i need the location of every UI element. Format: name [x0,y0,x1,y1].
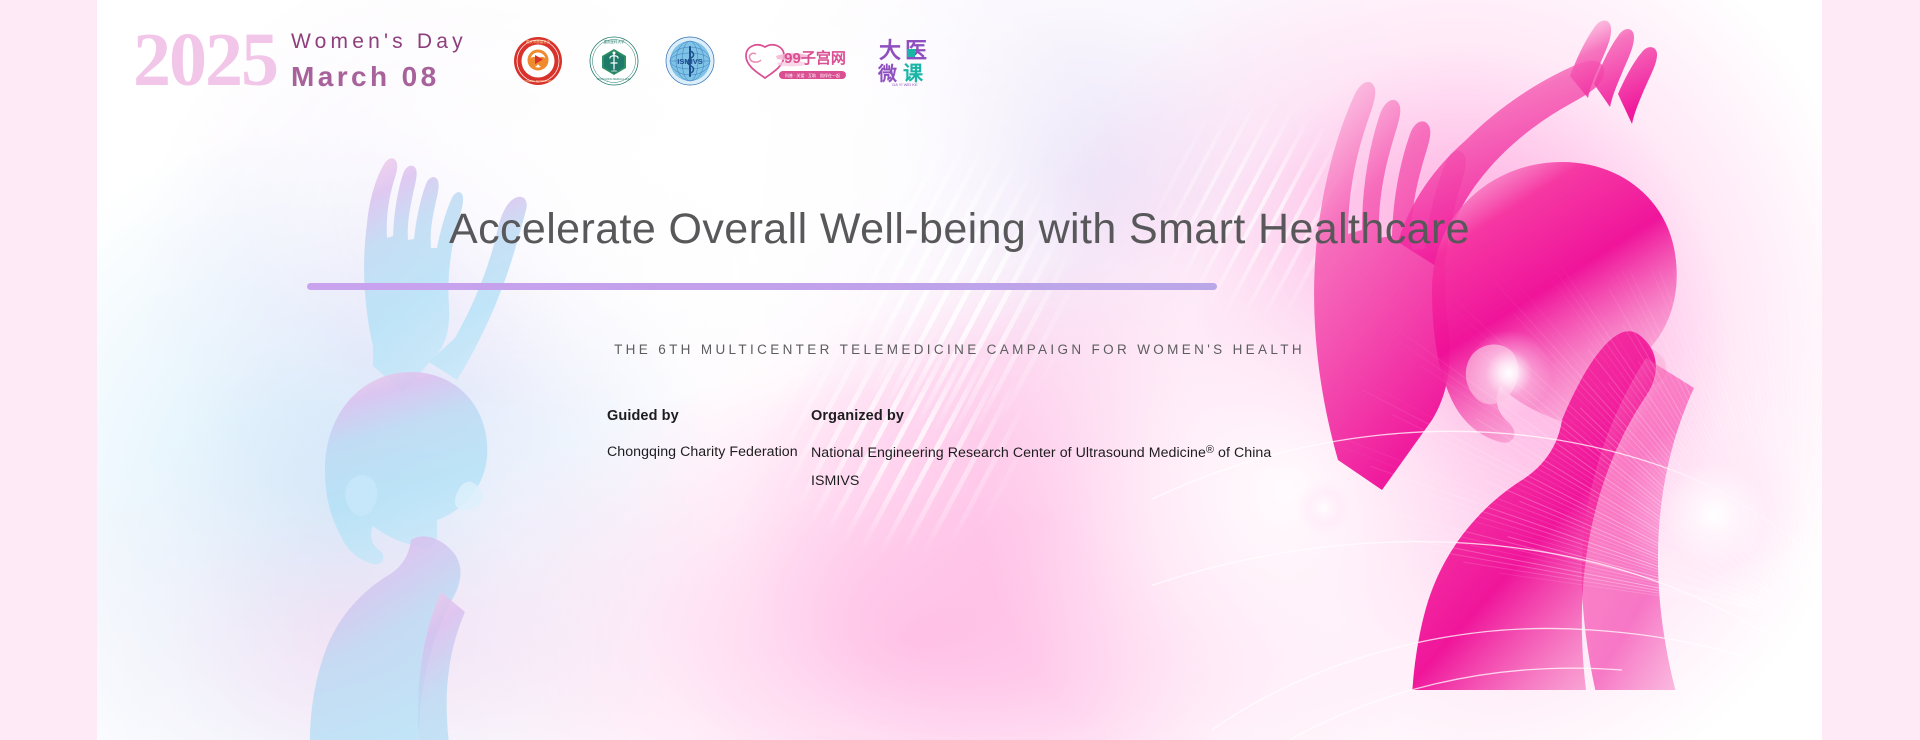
page-title: Accelerate Overall Well-being with Smart… [97,205,1822,254]
campaign-subtitle: THE 6TH MULTICENTER TELEMEDICINE CAMPAIG… [97,342,1822,357]
credits-organized-entry-suffix: of China [1214,445,1271,461]
title-divider [307,283,1217,290]
credits-guided-entry: Chongqing Charity Federation [607,445,811,459]
credits-organized-entry-name: National Engineering Research Center of … [811,445,1206,461]
credits-block: Guided by Chongqing Charity Federation O… [607,408,1331,488]
registered-trademark-icon: ® [1206,444,1214,456]
credits-guided-column: Guided by Chongqing Charity Federation [607,408,811,488]
credits-organized-column: Organized by National Engineering Resear… [811,408,1331,488]
credits-guided-heading: Guided by [607,408,811,424]
credits-organized-entry: National Engineering Research Center of … [811,445,1331,460]
credits-organized-entry: ISMIVS [811,474,1331,488]
banner-content: Accelerate Overall Well-being with Smart… [97,0,1822,740]
credits-organized-heading: Organized by [811,408,1331,424]
promotional-banner: 2025 Women's Day March 08 重庆市慈善总会 CHARIT… [97,0,1822,740]
